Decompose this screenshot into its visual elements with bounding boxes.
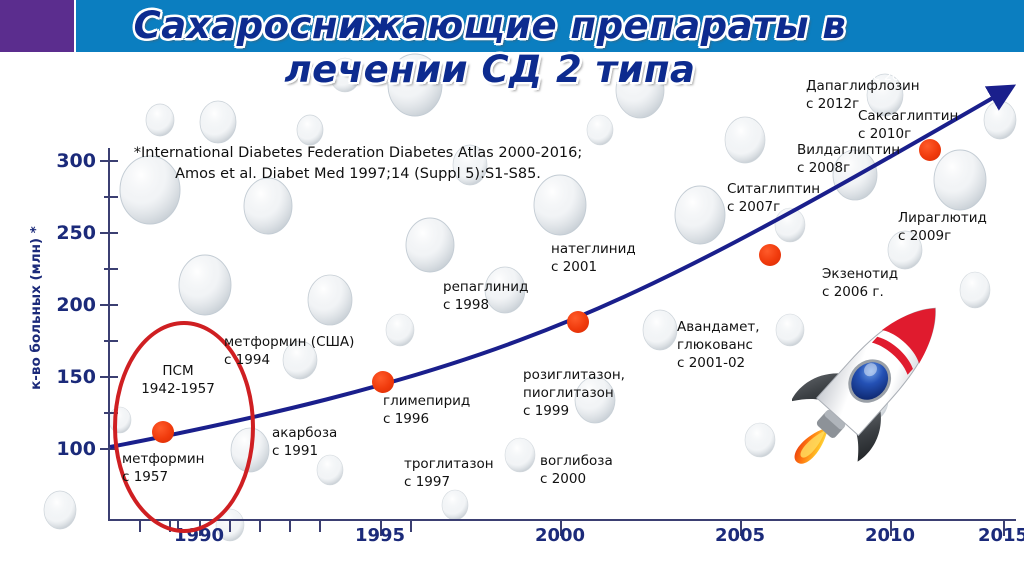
annotation-liraglutid: Лираглютид с 2009г — [898, 209, 1024, 245]
x-tick-1994 — [319, 521, 321, 532]
x-tick-1987 — [139, 521, 141, 532]
x-axis-label-2000: 2000 — [525, 525, 595, 546]
data-point-2006 — [759, 244, 781, 266]
annotation-metformin-1957: метформин с 1957 — [122, 450, 242, 486]
header-purple-block — [0, 0, 74, 52]
y-axis-label-300: 300 — [36, 150, 96, 172]
annotation-metformin-usa: метформин (США) с 1994 — [224, 333, 384, 369]
y-tick-minor-275 — [104, 196, 118, 198]
annotation-nateglinid: натеглинид с 2001 — [551, 240, 681, 276]
annotation-voglyboza: воглибоза с 2000 — [540, 452, 660, 488]
y-axis-title: к-во больных (млн) * — [28, 218, 44, 398]
annotation-vildagliptin: Вилдаглиптин с 2008г — [797, 141, 937, 177]
annotation-akarboza: акарбоза с 1991 — [272, 424, 392, 460]
citation-text: *International Diabetes Federation Diabe… — [78, 143, 638, 185]
annotation-empagliflozin-line1: Эмпазлифлозин с 2015г — [873, 51, 979, 83]
x-tick-1993 — [289, 521, 291, 532]
y-tick-150 — [100, 376, 118, 378]
y-axis-label-200: 200 — [36, 294, 96, 316]
x-axis-label-2015: 2015 — [968, 525, 1024, 546]
y-axis-label-150: 150 — [36, 366, 96, 388]
y-tick-200 — [100, 304, 118, 306]
annotation-glimepirid: глимепирид с 1996 — [383, 392, 513, 428]
x-axis-label-2010: 2010 — [855, 525, 925, 546]
annotation-rosiglitazon: розиглитазон, пиоглитазон с 1999 — [523, 366, 663, 420]
y-tick-minor-225 — [104, 268, 118, 270]
annotation-psm: ПСМ 1942-1957 — [118, 362, 238, 398]
annotation-empagliflozin: Эмпазлифлозин с 2015г — [873, 33, 1024, 84]
annotation-repaglinid: репаглинид с 1998 — [443, 278, 573, 314]
data-point-2000 — [567, 311, 589, 333]
annotation-troglitazon: троглитазон с 1997 — [404, 455, 524, 491]
y-axis-line — [108, 148, 110, 520]
slide-canvas: Сахароснижающие препараты в лечении СД 2… — [0, 0, 1024, 574]
annotation-sitagliptin: Ситаглиптин с 2007г — [727, 180, 867, 216]
x-axis-label-2005: 2005 — [705, 525, 775, 546]
y-axis-label-100: 100 — [36, 438, 96, 460]
rocket-icon — [792, 276, 942, 491]
y-tick-250 — [100, 232, 118, 234]
x-tick-1992 — [259, 521, 261, 532]
y-tick-minor-175 — [104, 340, 118, 342]
y-axis-label-250: 250 — [36, 222, 96, 244]
x-axis-line — [108, 519, 1016, 521]
x-axis-label-1995: 1995 — [345, 525, 415, 546]
page-title: Сахароснижающие препараты в лечении СД 2… — [130, 4, 850, 92]
data-point-1994 — [372, 371, 394, 393]
